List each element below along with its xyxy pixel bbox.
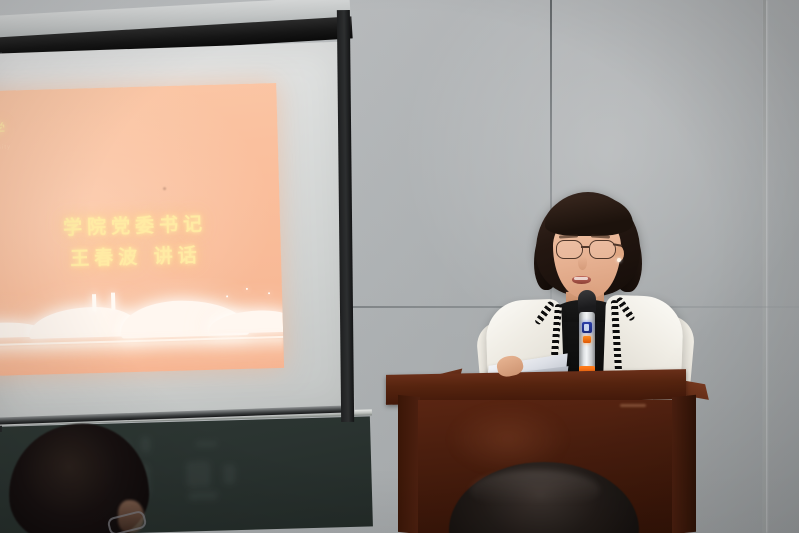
audience-member-center-hair-highlight	[470, 470, 600, 510]
speaker-teeth	[574, 277, 588, 280]
photograph-canvas: 大学 University 学院党委书记 王春波 讲话	[0, 0, 799, 533]
speaker-eyeglass-bridge	[581, 246, 589, 248]
speaker-earring	[617, 258, 621, 262]
speaker-hair-bangs	[545, 196, 633, 236]
microphone-head	[578, 290, 596, 314]
speaker-nose	[578, 256, 587, 270]
lectern-surface-scuff	[620, 404, 646, 407]
lectern-side-right	[672, 395, 696, 533]
lectern-side-left	[398, 395, 420, 533]
microphone-power-led-icon	[583, 336, 591, 343]
speaker-eyeglass-lens-right	[589, 240, 616, 259]
microphone-display-icon	[582, 322, 592, 333]
